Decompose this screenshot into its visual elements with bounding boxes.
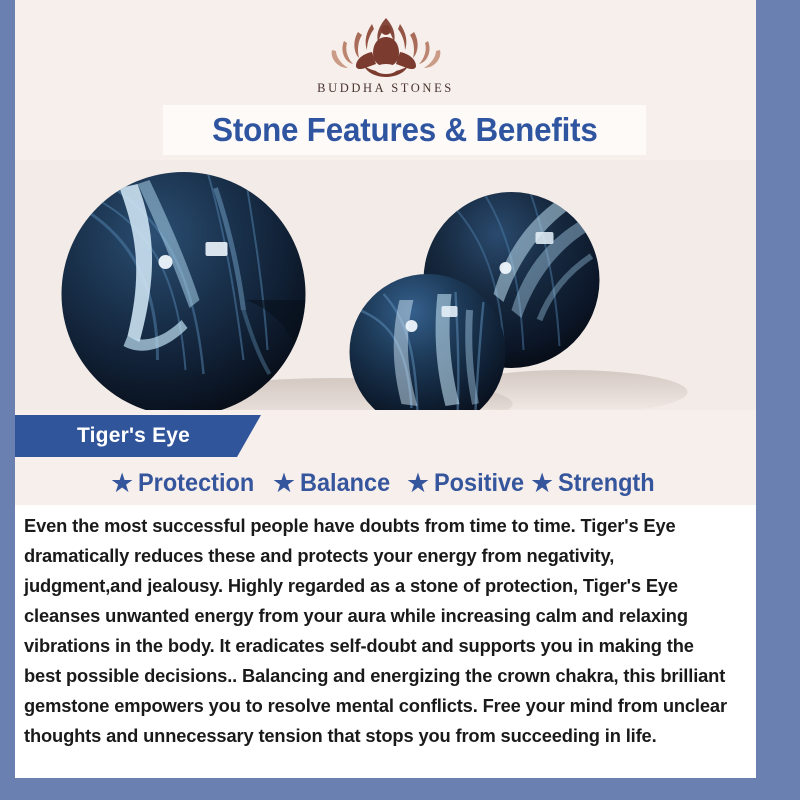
description-text: Even the most successful people have dou… bbox=[24, 511, 731, 751]
benefit-label: Strength bbox=[558, 469, 655, 498]
benefit-label: Positive bbox=[434, 469, 524, 498]
benefit-balance: ★ Balance bbox=[272, 469, 396, 498]
brand-name: BUDDHA STONES bbox=[317, 81, 454, 96]
page-title: Stone Features & Benefits bbox=[212, 111, 597, 149]
benefit-protection: ★ Protection bbox=[110, 469, 262, 498]
description-block: Even the most successful people have dou… bbox=[15, 505, 756, 778]
gemstone-photo bbox=[15, 160, 756, 410]
benefit-strength: ★ Strength bbox=[530, 469, 661, 498]
benefit-positive: ★ Positive bbox=[406, 469, 530, 498]
poster-root: BUDDHA STONES Stone Features & Benefits bbox=[0, 0, 800, 800]
page-title-band: Stone Features & Benefits bbox=[163, 105, 646, 155]
stone-name: Tiger's Eye bbox=[15, 415, 265, 457]
star-icon: ★ bbox=[406, 470, 430, 497]
lotus-meditation-icon bbox=[320, 8, 452, 80]
benefit-label: Protection bbox=[138, 469, 254, 498]
benefits-row: ★ Protection ★ Balance ★ Positive ★ Stre… bbox=[15, 462, 756, 504]
star-icon: ★ bbox=[110, 470, 134, 497]
star-icon: ★ bbox=[272, 470, 296, 497]
benefit-label: Balance bbox=[300, 469, 390, 498]
brand-header: BUDDHA STONES bbox=[15, 8, 756, 106]
star-icon: ★ bbox=[530, 470, 554, 497]
stone-name-ribbon: Tiger's Eye bbox=[15, 415, 265, 457]
